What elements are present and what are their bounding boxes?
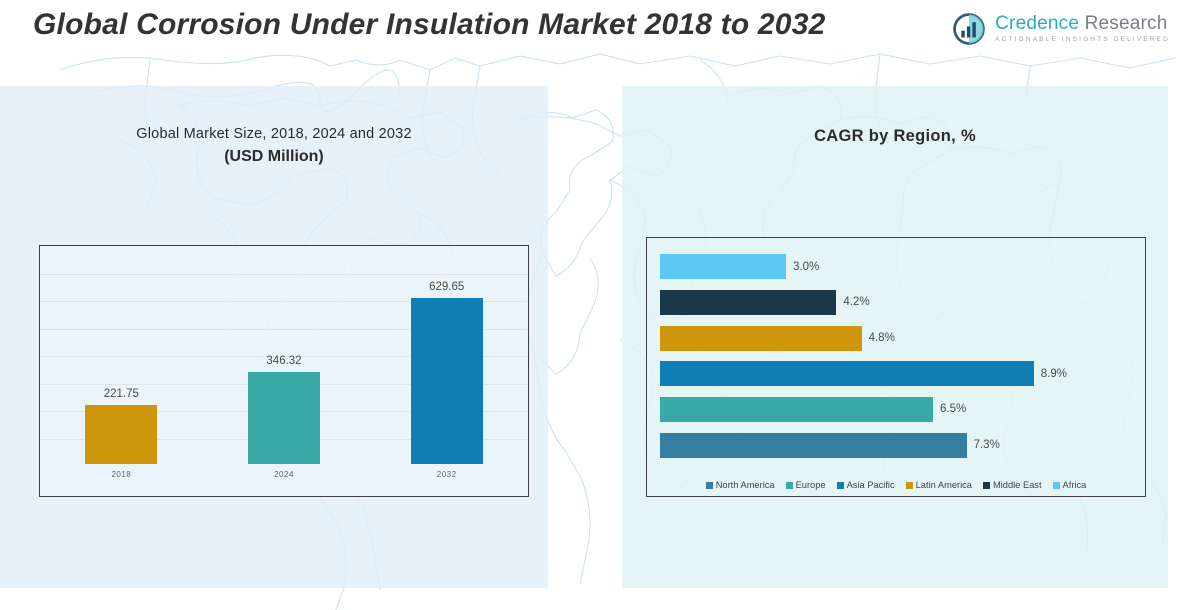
bar-row: 3.0% xyxy=(660,254,1139,279)
bar-row: 8.9% xyxy=(660,361,1139,386)
column-item: 346.32 xyxy=(203,246,366,464)
bar-value-label: 6.5% xyxy=(940,403,966,415)
column-value-label: 221.75 xyxy=(104,388,139,400)
logo-tagline: Actionable Insights Delivered xyxy=(995,37,1170,44)
column-bar xyxy=(85,405,157,464)
horizontal-bar xyxy=(660,254,786,279)
column-plot-area: 221.75346.32629.65 xyxy=(40,246,528,464)
legend-label: North America xyxy=(716,480,775,490)
bar-row: 6.5% xyxy=(660,397,1139,422)
legend-swatch xyxy=(906,482,913,489)
logo-name-primary: Credence xyxy=(995,13,1079,34)
bar-row: 4.2% xyxy=(660,290,1139,315)
bar-value-label: 4.8% xyxy=(869,332,895,344)
horizontal-bar-plot-area: 3.0%4.2%4.8%8.9%6.5%7.3% xyxy=(660,249,1139,463)
bar-value-label: 8.9% xyxy=(1041,368,1067,380)
legend-item[interactable]: Africa xyxy=(1053,480,1087,490)
left-panel: Global Market Size, 2018, 2024 and 2032 … xyxy=(0,86,548,588)
horizontal-bar xyxy=(660,433,967,458)
legend-item[interactable]: Asia Pacific xyxy=(837,480,895,490)
x-axis-labels: 201820242032 xyxy=(40,464,528,496)
column-item: 629.65 xyxy=(365,246,528,464)
x-axis-tick-label: 2024 xyxy=(203,464,366,496)
legend-item[interactable]: North America xyxy=(706,480,775,490)
horizontal-bar xyxy=(660,397,933,422)
horizontal-bar xyxy=(660,361,1034,386)
x-axis-tick-label: 2018 xyxy=(40,464,203,496)
cagr-by-region-bar-chart: 3.0%4.2%4.8%8.9%6.5%7.3% North AmericaEu… xyxy=(646,237,1146,497)
legend-label: Latin America xyxy=(916,480,972,490)
brand-logo: Credence Research Actionable Insights De… xyxy=(952,12,1170,46)
legend-item[interactable]: Latin America xyxy=(906,480,972,490)
column-item: 221.75 xyxy=(40,246,203,464)
bar-row: 4.8% xyxy=(660,326,1139,351)
logo-name: Credence Research xyxy=(995,14,1170,33)
left-chart-title-line2: (USD Million) xyxy=(0,148,548,166)
market-size-column-chart: 221.75346.32629.65 201820242032 xyxy=(39,245,529,497)
bar-value-label: 4.2% xyxy=(843,296,869,308)
legend-label: Europe xyxy=(796,480,826,490)
legend-item[interactable]: Europe xyxy=(786,480,826,490)
horizontal-bar xyxy=(660,290,836,315)
logo-name-secondary: Research xyxy=(1085,13,1168,34)
legend-swatch xyxy=(706,482,713,489)
column-value-label: 346.32 xyxy=(266,355,301,367)
legend-swatch xyxy=(786,482,793,489)
legend-label: Middle East xyxy=(993,480,1042,490)
bar-value-label: 7.3% xyxy=(974,439,1000,451)
column-bar xyxy=(248,372,320,464)
right-panel: CAGR by Region, % 3.0%4.2%4.8%8.9%6.5%7.… xyxy=(622,86,1168,588)
credence-bar-chart-circle-icon xyxy=(952,12,986,46)
legend-label: Africa xyxy=(1063,480,1087,490)
column-value-label: 629.65 xyxy=(429,281,464,293)
header: Global Corrosion Under Insulation Market… xyxy=(0,0,1192,86)
x-axis-tick-label: 2032 xyxy=(365,464,528,496)
left-chart-title-line1: Global Market Size, 2018, 2024 and 2032 xyxy=(0,126,548,142)
legend-item[interactable]: Middle East xyxy=(983,480,1042,490)
column-bar xyxy=(411,298,483,464)
legend-swatch xyxy=(837,482,844,489)
bar-row: 7.3% xyxy=(660,433,1139,458)
legend-label: Asia Pacific xyxy=(847,480,895,490)
right-chart-title: CAGR by Region, % xyxy=(622,127,1168,146)
bar-value-label: 3.0% xyxy=(793,261,819,273)
page-title: Global Corrosion Under Insulation Market… xyxy=(33,6,853,44)
horizontal-bar xyxy=(660,326,862,351)
legend-swatch xyxy=(983,482,990,489)
chart-legend: North AmericaEuropeAsia PacificLatin Ame… xyxy=(647,480,1145,490)
legend-swatch xyxy=(1053,482,1060,489)
